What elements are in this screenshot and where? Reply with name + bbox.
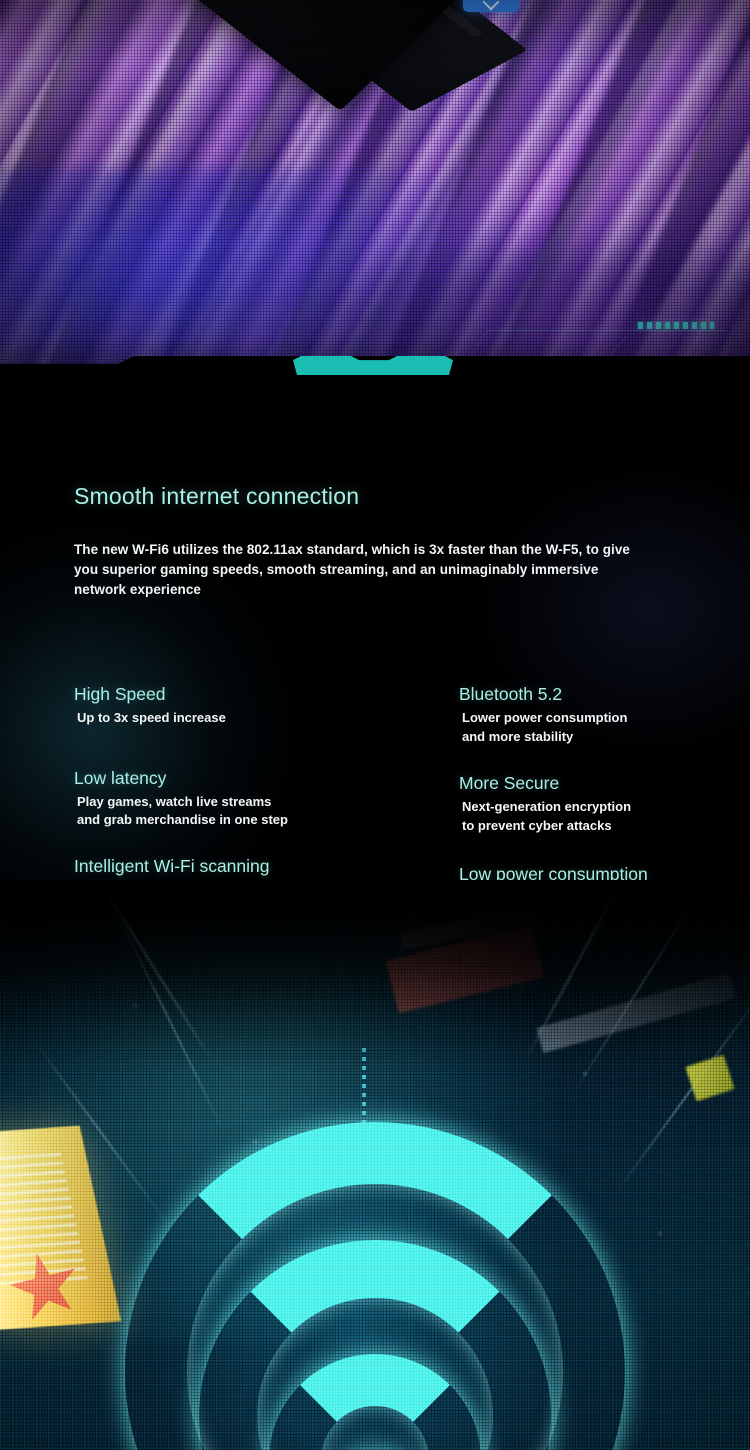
feature-description: Play games, watch live streamsand grab m… (74, 793, 404, 830)
feature-description: Up to 3x speed increase (74, 709, 404, 728)
feature-item: More Secure Next-generation encryptionto… (459, 771, 749, 835)
feature-description: Next-generation encryptionto prevent cyb… (459, 798, 749, 835)
feature-description: Lower power consumptionand more stabilit… (459, 709, 749, 746)
feature-item: Low latency Play games, watch live strea… (74, 766, 404, 830)
feature-item: Bluetooth 5.2 Lower power consumptionand… (459, 682, 749, 746)
section-title: Smooth internet connection (74, 483, 359, 510)
feature-title: Intelligent Wi-Fi scanning (74, 854, 404, 878)
feature-title: Low latency (74, 766, 404, 790)
feature-item: High Speed Up to 3x speed increase (74, 682, 404, 728)
cityscape-wifi-visual (0, 880, 750, 1450)
hero-vignette (0, 0, 750, 400)
feature-title: More Secure (459, 771, 749, 795)
feature-title: High Speed (74, 682, 404, 706)
city-top-fade (0, 880, 750, 1070)
feature-title: Bluetooth 5.2 (459, 682, 749, 706)
hero-product-image (0, 0, 750, 400)
section-body: The new W-Fi6 utilizes the 802.11ax stan… (74, 540, 652, 600)
